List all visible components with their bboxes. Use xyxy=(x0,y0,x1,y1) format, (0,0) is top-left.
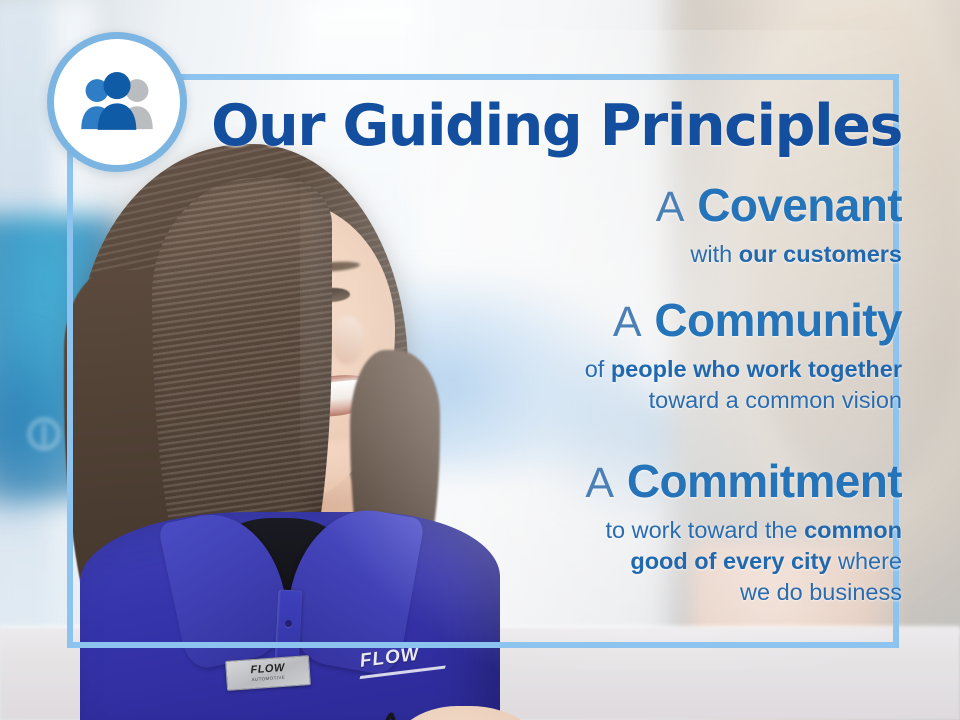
principle-article: A xyxy=(613,298,642,346)
principle-article: A xyxy=(656,183,685,231)
principle-word: Commitment xyxy=(627,455,902,507)
principle-word: Covenant xyxy=(697,179,902,231)
principle-headline: A Community xyxy=(585,297,902,345)
principle-subtext: to work toward the commongood of every c… xyxy=(585,515,902,609)
principle-headline: A Covenant xyxy=(656,182,902,230)
principle-word: Community xyxy=(654,294,902,346)
principle-subtext: with our customers xyxy=(656,239,902,270)
principle-headline: A Commitment xyxy=(585,458,902,506)
principle-article: A xyxy=(585,459,614,507)
principle-subtext: of people who work togethertoward a comm… xyxy=(585,354,902,417)
principle-commitment: A Commitment to work toward the commongo… xyxy=(585,458,902,609)
text-content: Our Guiding Principles A Covenant with o… xyxy=(0,0,960,720)
principle-community: A Community of people who work togethert… xyxy=(585,297,902,416)
principle-covenant: A Covenant with our customers xyxy=(656,182,902,270)
page-title: Our Guiding Principles xyxy=(0,93,902,159)
